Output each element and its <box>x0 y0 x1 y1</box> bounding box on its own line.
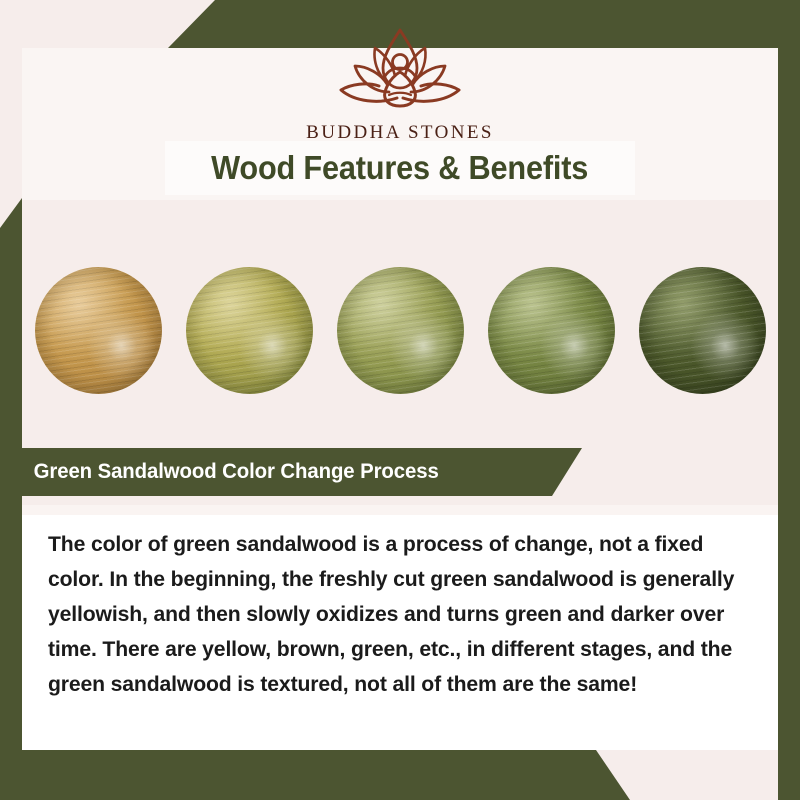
frame-band-bottom <box>0 750 800 800</box>
wood-bead-row <box>22 240 778 420</box>
section-banner-title: Green Sandalwood Color Change Process <box>22 460 439 484</box>
title-band: Wood Features & Benefits <box>165 141 635 195</box>
section-banner: Green Sandalwood Color Change Process <box>22 448 582 496</box>
poster-root: BUDDHA STONES Wood Features & Benefits G… <box>0 0 800 800</box>
wood-bead-stage-4 <box>488 267 615 394</box>
wood-bead-stage-5 <box>639 267 766 394</box>
body-paragraph: The color of green sandalwood is a proce… <box>48 527 738 702</box>
wood-bead-stage-3 <box>337 267 464 394</box>
wood-bead-stage-2 <box>186 267 313 394</box>
brand-logo: BUDDHA STONES <box>0 22 800 144</box>
body-panel-top-edge <box>22 505 778 515</box>
page-title: Wood Features & Benefits <box>212 149 589 187</box>
lotus-meditation-figure-icon <box>315 22 485 118</box>
body-panel: The color of green sandalwood is a proce… <box>22 505 778 750</box>
wood-bead-stage-1 <box>35 267 162 394</box>
